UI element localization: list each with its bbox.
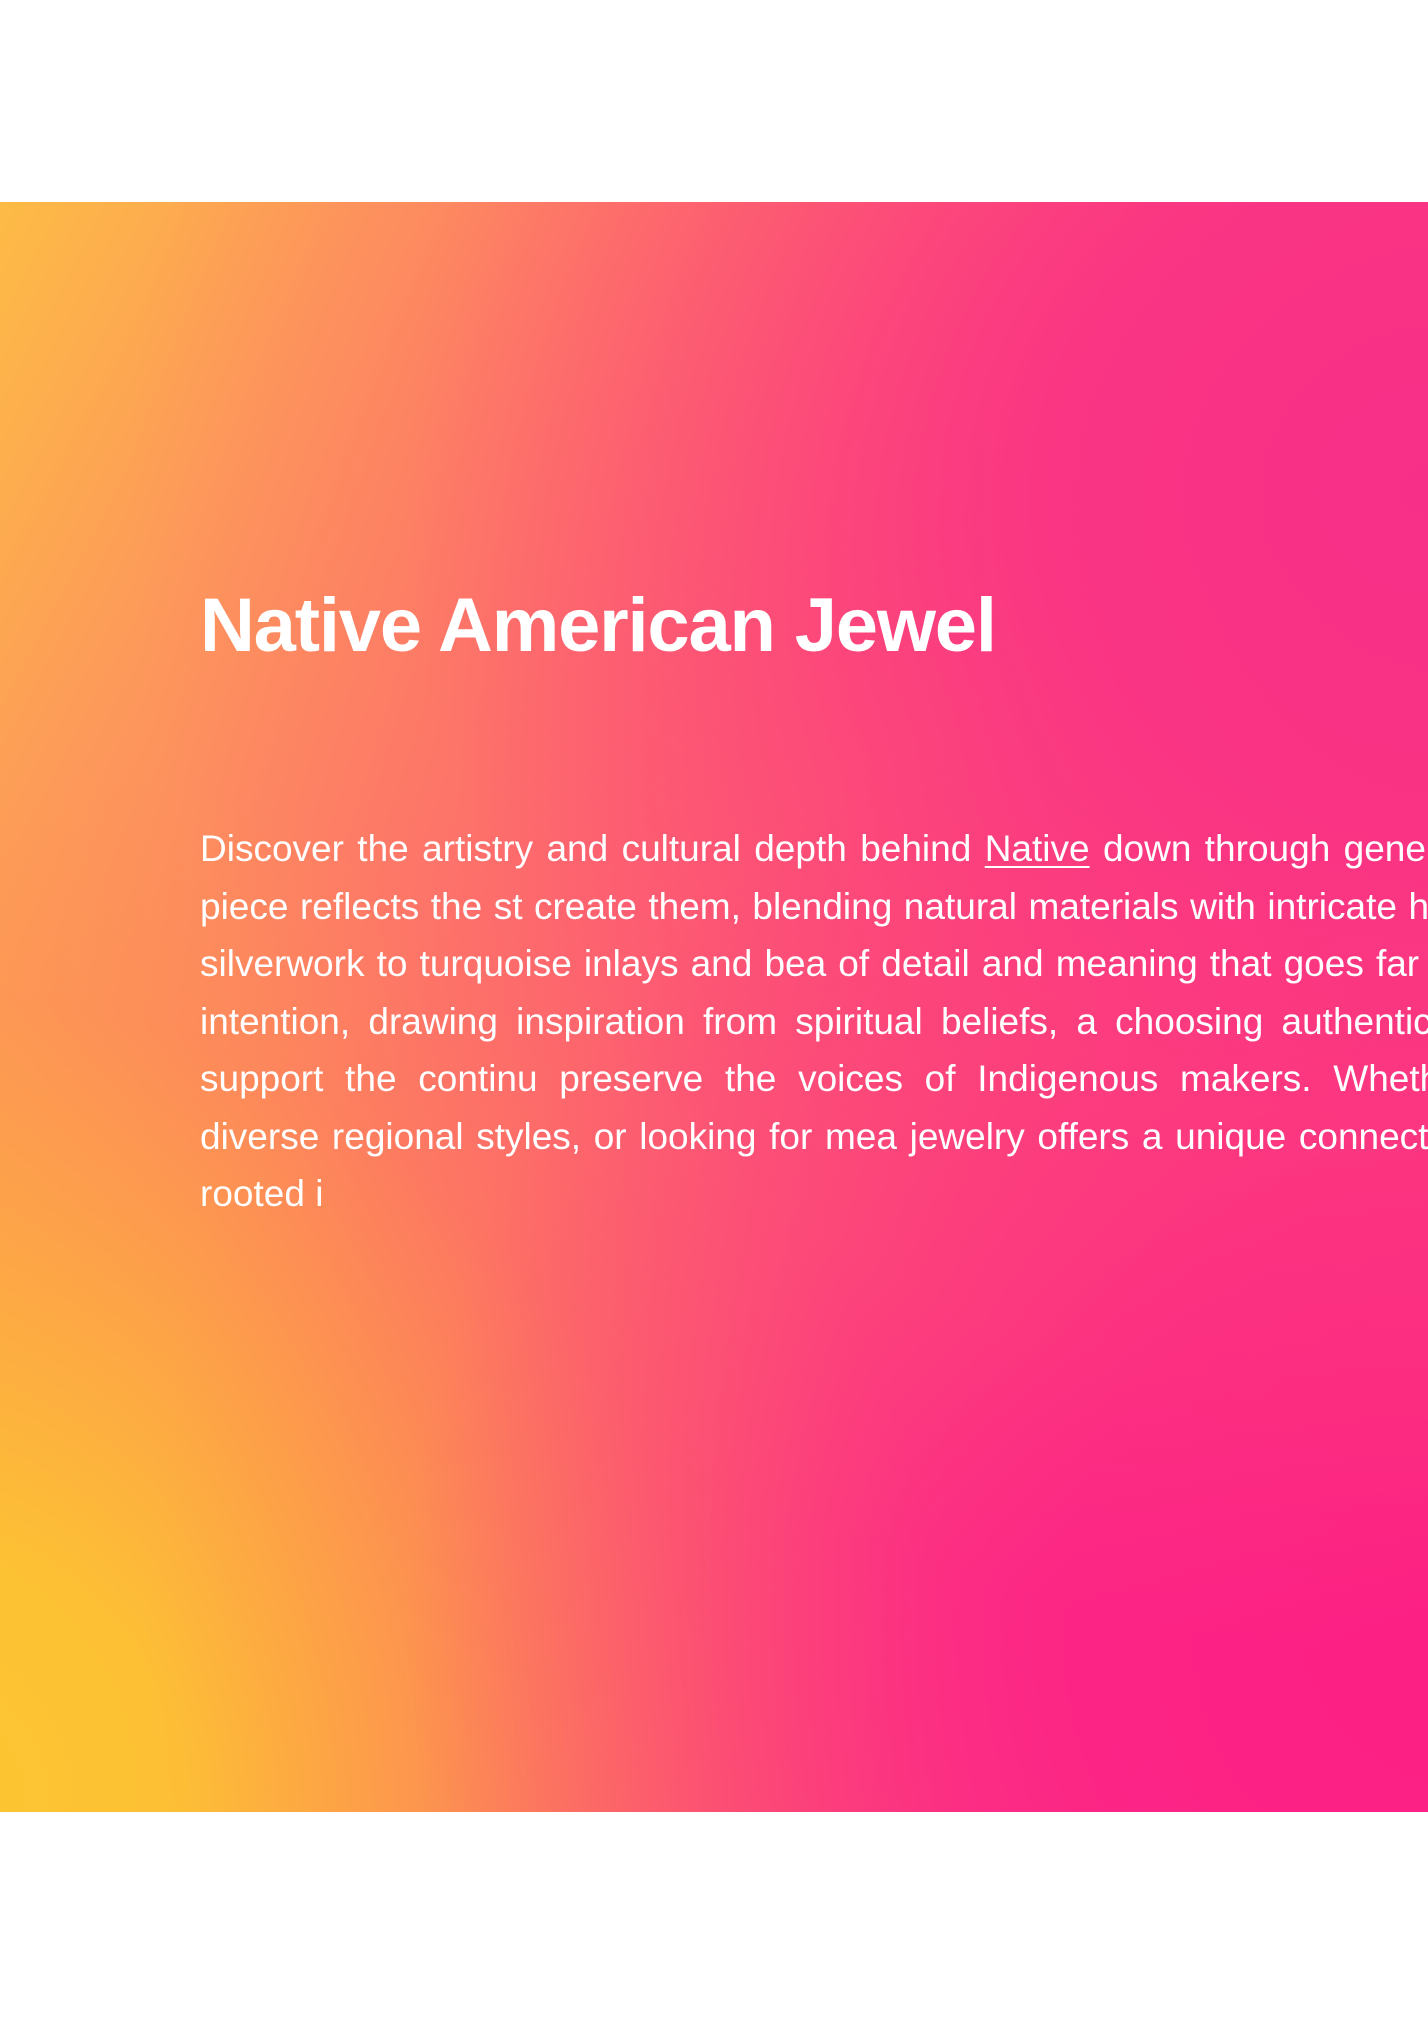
page-root: Native American Jewel Discover the artis… <box>0 0 1428 2018</box>
hero-gradient-panel: Native American Jewel Discover the artis… <box>0 202 1428 1812</box>
top-white-band <box>0 0 1428 202</box>
page-title: Native American Jewel <box>200 586 1428 667</box>
body-rest-text: down through generations. Each piece ref… <box>200 828 1428 1214</box>
bottom-white-band <box>0 1812 1428 2018</box>
body-lead-text: Discover the artistry and cultural depth… <box>200 828 985 869</box>
hero-body-paragraph: Discover the artistry and cultural depth… <box>200 820 1428 1223</box>
native-american-jewelry-link[interactable]: Native <box>985 828 1090 869</box>
